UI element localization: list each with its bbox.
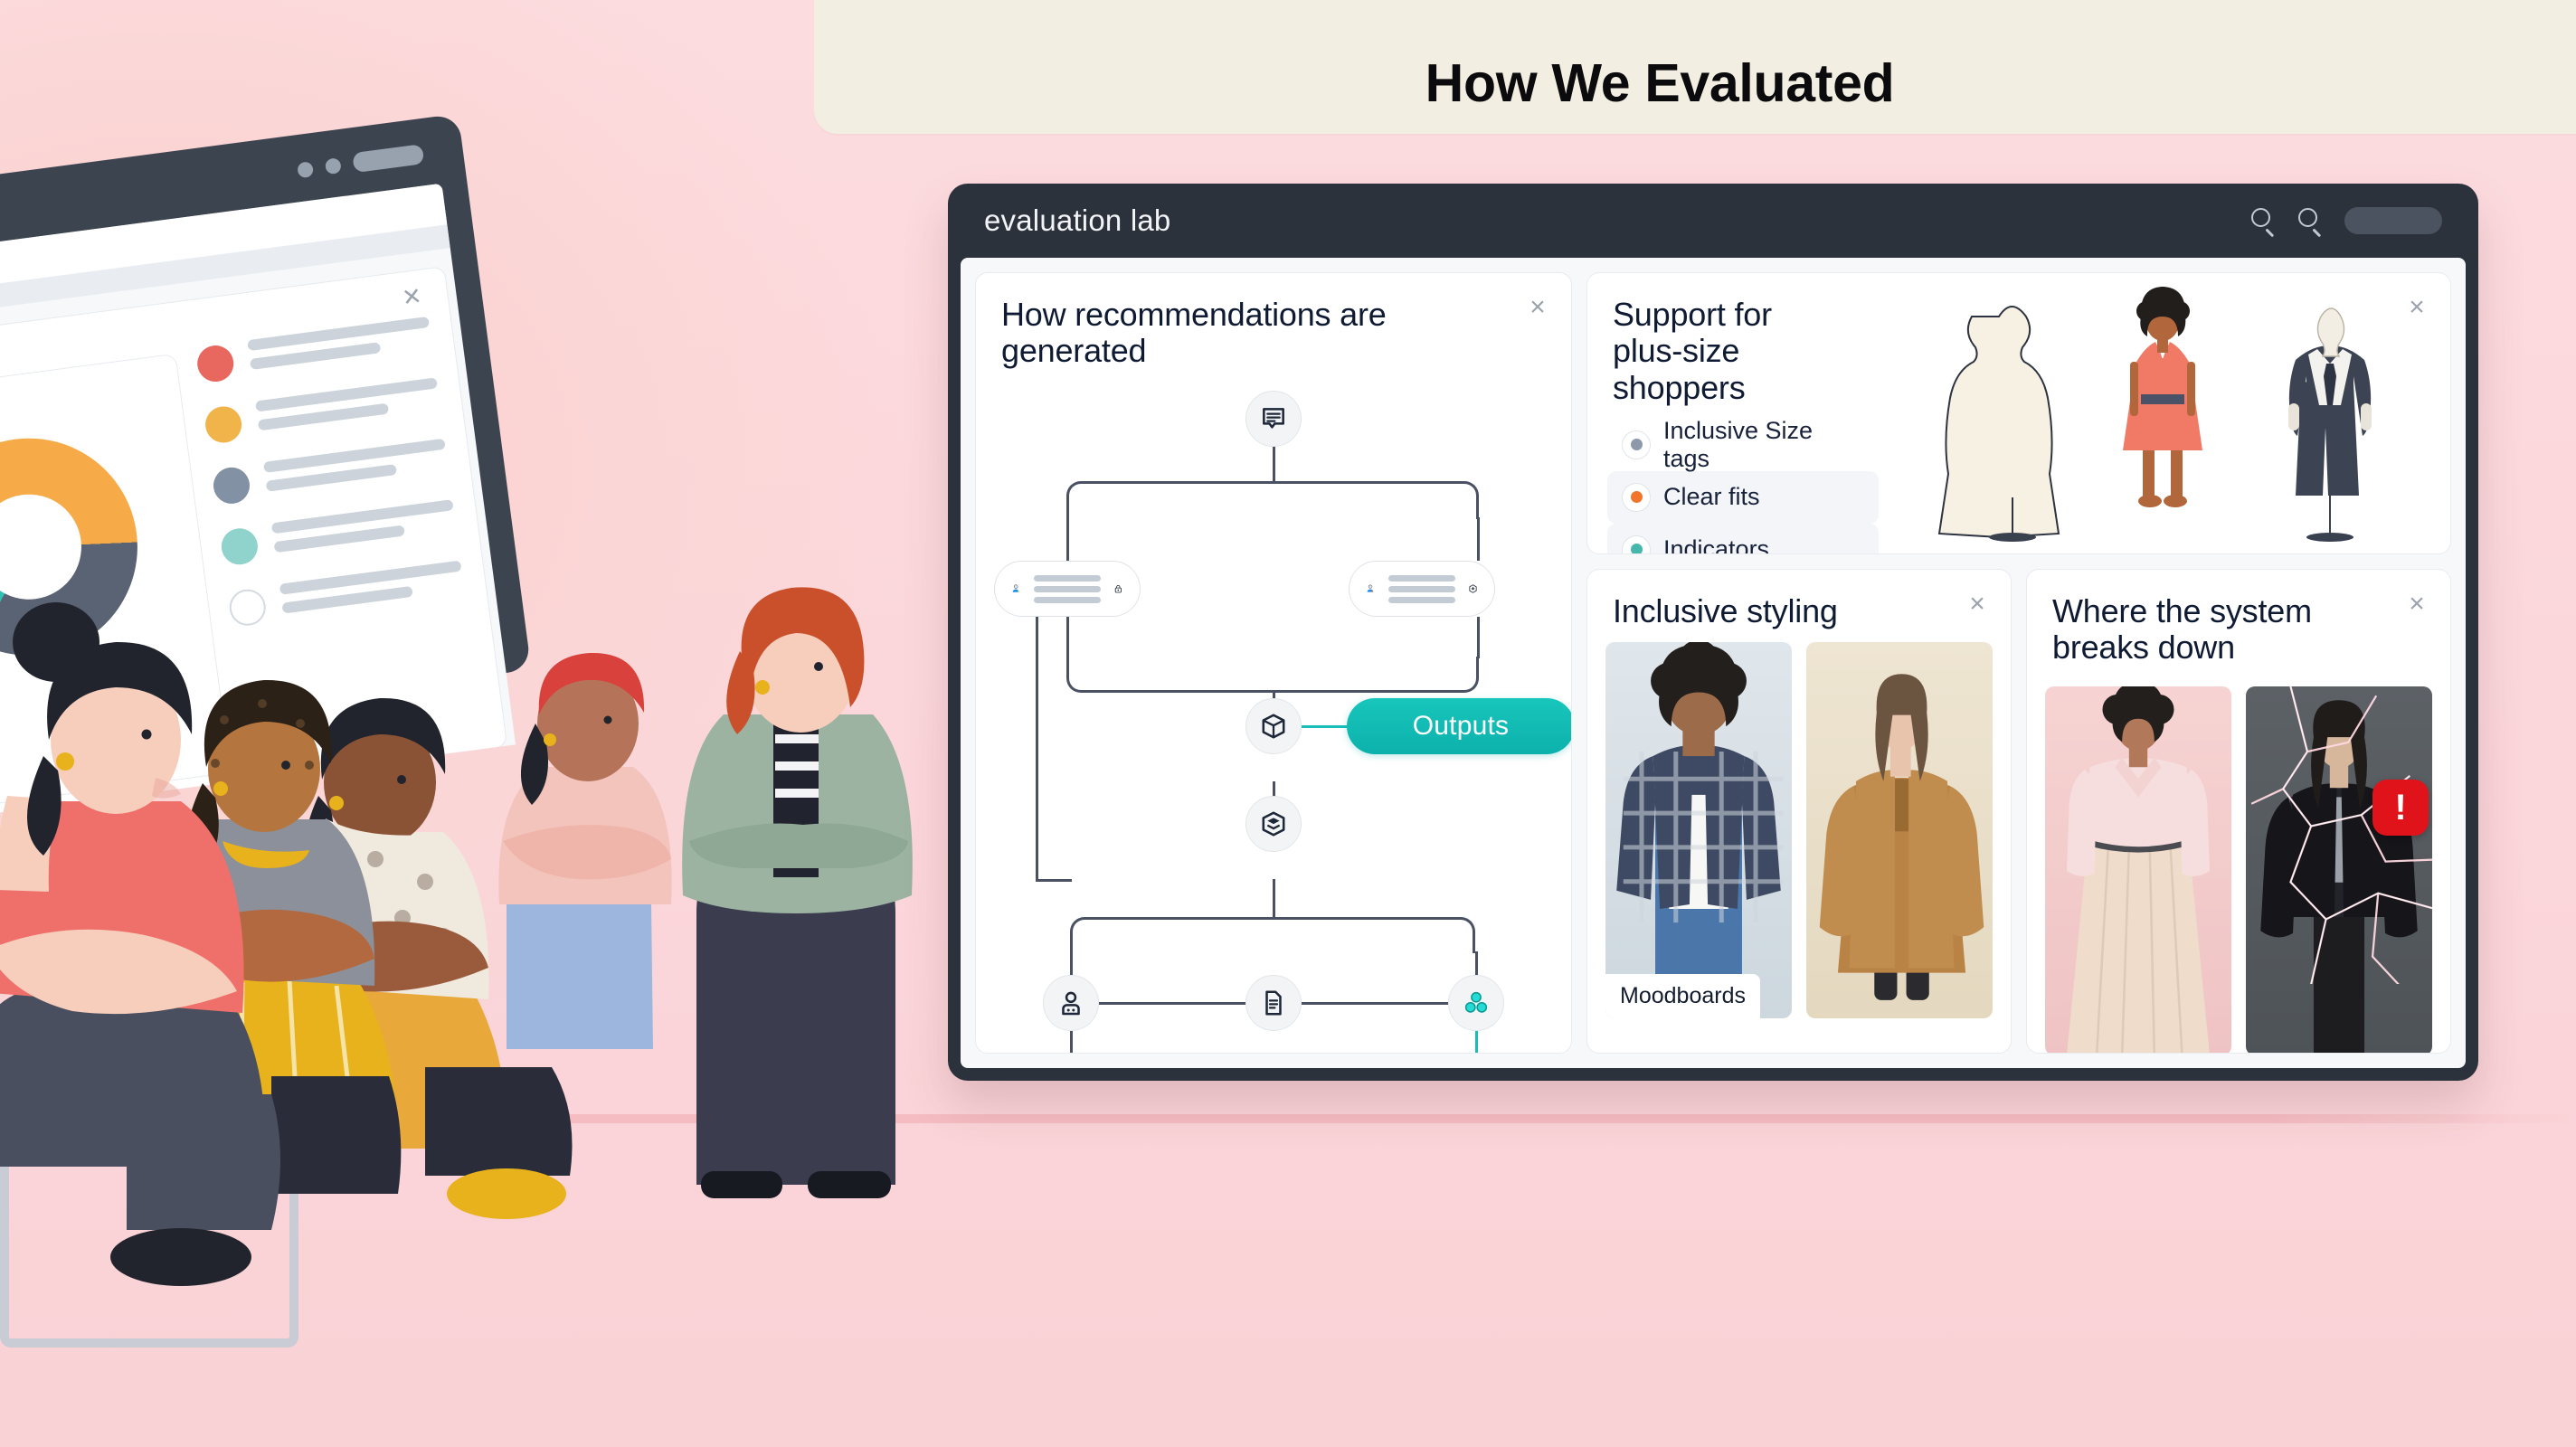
document-icon (1259, 988, 1288, 1017)
search-icon[interactable] (2250, 207, 2278, 234)
profile-download-node[interactable] (1349, 561, 1495, 617)
card-support-for-plus-size-shoppers: Support for plus-size shoppers Inclusive… (1586, 272, 2451, 554)
person-icon (1366, 575, 1376, 602)
person-icon (1011, 575, 1021, 602)
option-label: Clear fits (1663, 483, 1760, 511)
cluster-node[interactable] (1448, 975, 1504, 1031)
person-pink-blazer (498, 653, 671, 1049)
outputs-pill-top[interactable]: Outputs (1347, 698, 1572, 754)
alert-badge: ! (2372, 780, 2429, 836)
thumbnail-label: Moodboards (1605, 974, 1760, 1018)
app-title: evaluation lab (984, 203, 1170, 238)
card-where-the-system-breaks-down: Where the system breaks down × ! (2026, 569, 2451, 1054)
close-icon[interactable]: × (1964, 591, 1991, 619)
outputs-label: Outputs (1413, 711, 1509, 742)
people-group (0, 0, 986, 1447)
thumbnail-plaid-shirt[interactable]: Moodboards (1605, 642, 1792, 1018)
profile-lock-node[interactable] (994, 561, 1141, 617)
card-title: Inclusive styling (1587, 570, 2011, 629)
three-dots-cluster-icon (1461, 988, 1492, 1018)
option-indicators[interactable]: Indicators (1607, 524, 1879, 554)
option-clear-fits[interactable]: Clear fits (1607, 471, 1879, 524)
box-icon (1259, 712, 1288, 741)
window-viewport: How recommendations are generated × (961, 258, 2466, 1068)
audience-illustration: ✕ (0, 0, 986, 1447)
option-list: Inclusive Size tags Clear fits Indicator… (1607, 419, 1913, 554)
window-titlebar: evaluation lab (948, 184, 2478, 258)
user-node[interactable] (1043, 975, 1099, 1031)
hexagon-download-icon (1468, 575, 1478, 602)
option-label: Inclusive Size tags (1663, 417, 1864, 473)
evaluation-lab-window: evaluation lab How recommendations are g… (948, 184, 2478, 1081)
alert-badge-label: ! (2394, 788, 2406, 828)
person-green-blazer (682, 587, 913, 1198)
layers-hexagon-icon (1259, 809, 1288, 838)
thumbnail-camel-coat[interactable] (1806, 642, 1993, 1018)
option-label: Indicators (1663, 535, 1769, 554)
search-icon[interactable] (2297, 207, 2325, 234)
page-title: How We Evaluated (1425, 52, 1895, 114)
user-icon (1056, 988, 1085, 1017)
option-inclusive-size-tags[interactable]: Inclusive Size tags (1607, 419, 1879, 471)
card-how-recommendations-are-generated: How recommendations are generated × (975, 272, 1572, 1054)
close-icon[interactable]: × (2403, 591, 2430, 619)
mannequin-cream (1939, 307, 2059, 542)
thumbnail-pink-dress[interactable] (2045, 686, 2231, 1054)
card-inclusive-styling: Inclusive styling × (1586, 569, 2012, 1054)
message-icon (1259, 404, 1288, 433)
message-node[interactable] (1245, 391, 1302, 447)
radio-icon (1622, 483, 1651, 512)
title-banner: How We Evaluated (814, 0, 2576, 134)
lock-icon (1113, 576, 1123, 601)
account-pill[interactable] (2344, 207, 2442, 234)
card-title: Where the system breaks down (2027, 570, 2450, 667)
close-icon[interactable]: × (1524, 295, 1551, 322)
document-node[interactable] (1245, 975, 1302, 1031)
layers-node[interactable] (1245, 796, 1302, 852)
radio-icon (1622, 430, 1651, 459)
flow-diagram: Outputs (976, 391, 1571, 1053)
card-title: Support for plus-size shoppers (1587, 273, 1913, 406)
radio-icon (1622, 535, 1651, 554)
mannequin-dark-suit (2288, 308, 2372, 542)
card-title: How recommendations are generated (976, 273, 1571, 370)
woman-coral-dress (2123, 287, 2202, 507)
thumbnail-black-suit-cracked[interactable] (2246, 686, 2432, 1054)
box-node[interactable] (1245, 698, 1302, 754)
figure-row (1913, 273, 2450, 553)
